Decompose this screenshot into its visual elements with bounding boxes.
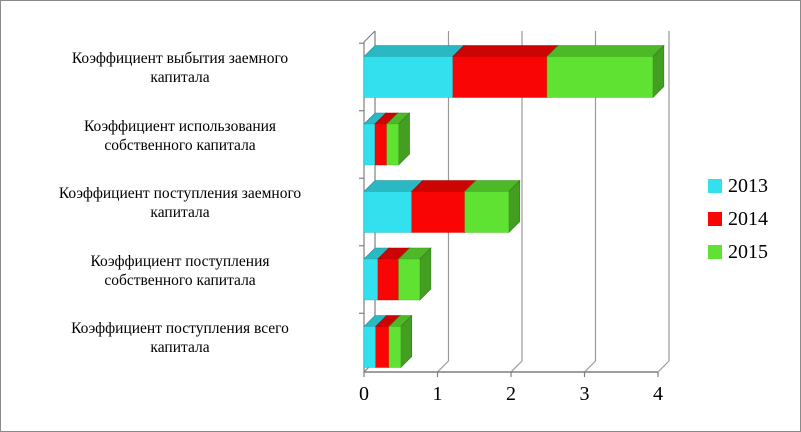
legend-swatch-icon xyxy=(708,245,722,259)
plot-svg xyxy=(1,1,801,432)
x-axis-tick-label: 2 xyxy=(496,383,526,406)
legend-item: 2015 xyxy=(708,235,798,268)
chart-legend: 201320142015 xyxy=(708,169,798,268)
legend-item: 2014 xyxy=(708,202,798,235)
x-axis-tick-label: 4 xyxy=(643,383,673,406)
x-axis-tick-label: 0 xyxy=(349,383,379,406)
bar-segment xyxy=(547,46,664,98)
legend-label: 2014 xyxy=(728,209,768,229)
legend-label: 2013 xyxy=(728,176,768,196)
legend-swatch-icon xyxy=(708,179,722,193)
bar-segment xyxy=(364,46,464,98)
legend-swatch-icon xyxy=(708,212,722,226)
bar-segment xyxy=(387,113,410,165)
bar-segment xyxy=(465,181,520,233)
legend-item: 2013 xyxy=(708,169,798,202)
bar-segment xyxy=(453,46,558,98)
legend-label: 2015 xyxy=(728,242,768,262)
plot-area xyxy=(1,1,801,432)
chart-figure: Коэффициент выбытия заемногокапиталаКоэф… xyxy=(0,0,801,432)
bar-segment xyxy=(399,248,431,300)
x-axis-tick-label: 1 xyxy=(423,383,453,406)
bar-segment xyxy=(389,316,412,368)
x-axis-tick-label: 3 xyxy=(570,383,600,406)
